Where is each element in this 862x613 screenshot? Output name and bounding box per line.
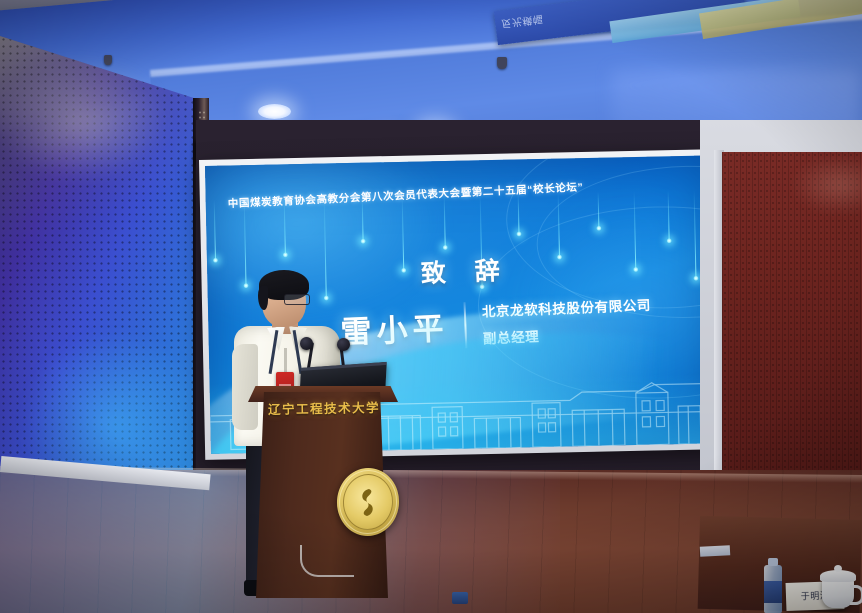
speaker-glasses-icon [284,294,310,305]
emblem-symbol [355,486,381,518]
downlight-1 [258,104,291,119]
microphone-head-right [337,338,350,351]
document-sheet [700,545,730,557]
light-dot [324,295,329,300]
teacup-knob [834,565,842,572]
light-dot [596,226,601,231]
light-dot [667,238,672,243]
light-strand [518,193,520,233]
bottle-label [764,581,782,603]
speaker-hair-side [258,286,268,310]
water-bottle [764,565,782,613]
podium-label: 辽宁工程技术大学 [262,397,386,418]
speaker-arm-left [232,344,258,430]
light-dot [283,252,288,257]
light-strand [284,198,286,254]
microphone-head-left [300,337,313,350]
light-strand [362,197,364,241]
sprinkler-head-1 [497,57,507,69]
left-wall-highlight [0,60,170,180]
right-wall-light-sheen [790,155,862,215]
bottle-cap [768,558,778,566]
light-dot [516,231,521,236]
podium-cable [300,545,354,577]
light-strand [444,195,446,247]
ceiling-banner-text: 反光横幅 [501,12,545,32]
light-strand [214,200,216,260]
teacup-handle [850,585,862,605]
light-strand [598,192,600,228]
floor-object [452,592,468,604]
light-strand [558,193,560,257]
conference-hall-photo: 反光横幅 中国煤炭教育协会高教分会第八次会员代表大会暨第二十五届“校长论坛” [0,0,862,613]
light-dot [443,245,448,250]
light-strand [668,190,670,240]
light-dot [361,239,366,244]
